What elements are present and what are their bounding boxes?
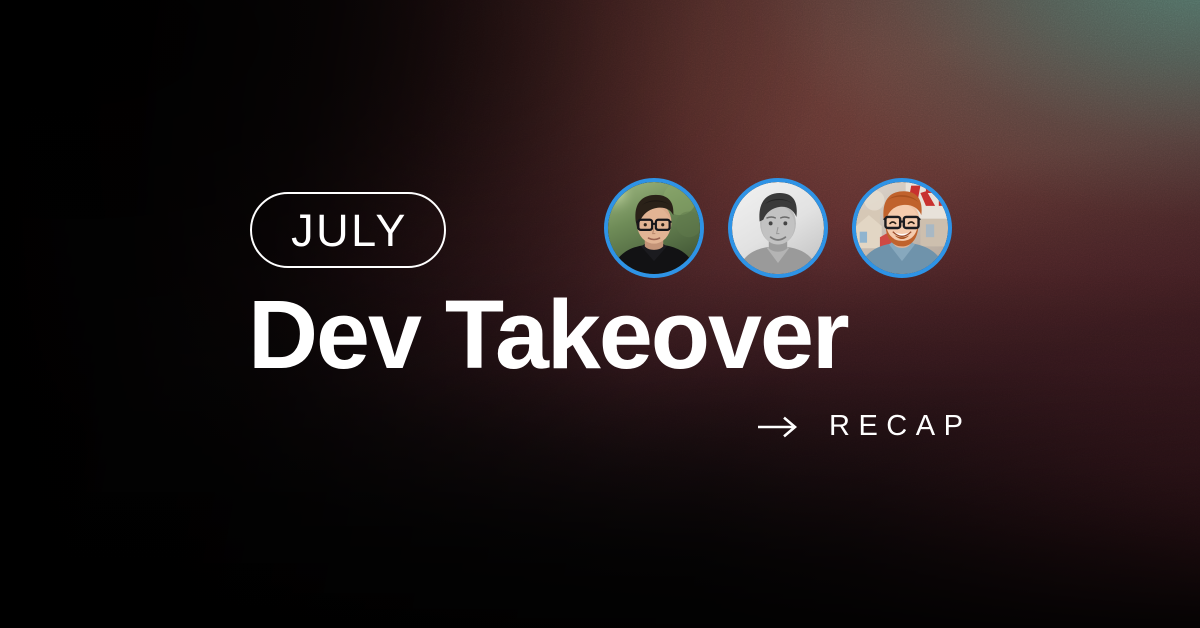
avatar-developer-1	[604, 178, 704, 278]
recap-row[interactable]: RECAP	[757, 412, 971, 441]
month-badge-label: JULY	[288, 208, 408, 253]
banner-content: JULY	[0, 0, 1200, 628]
avatar-group	[604, 178, 952, 278]
dev-takeover-banner: JULY	[0, 0, 1200, 628]
page-title: Dev Takeover	[248, 286, 848, 383]
avatar-developer-2-photo	[732, 182, 824, 274]
recap-label: RECAP	[827, 412, 971, 441]
avatar-developer-3	[852, 178, 952, 278]
month-badge: JULY	[250, 192, 446, 268]
arrow-right-icon	[757, 416, 799, 438]
avatar-developer-2	[728, 178, 828, 278]
avatar-developer-3-photo	[856, 182, 948, 274]
avatar-developer-1-photo	[608, 182, 700, 274]
